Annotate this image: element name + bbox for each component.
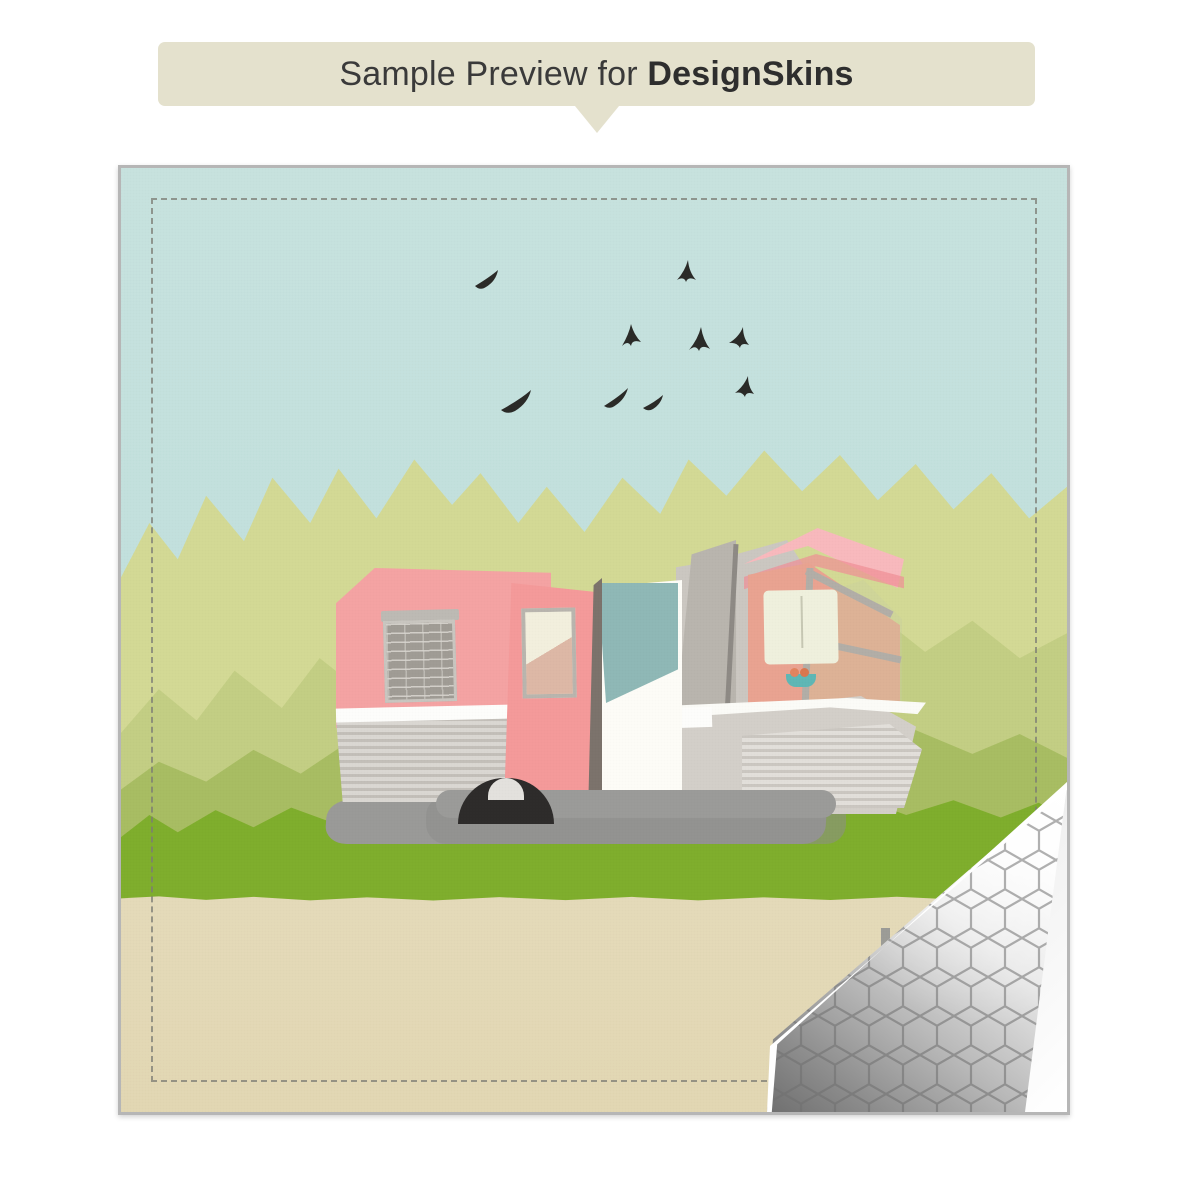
caravan-door-window: [521, 608, 577, 699]
banner-pointer-icon: [575, 106, 619, 133]
artwork-frame[interactable]: [118, 165, 1070, 1115]
louvered-window: [383, 619, 457, 703]
bird-icon: [604, 388, 628, 408]
bird-icon: [735, 376, 754, 397]
door-window-glass: [525, 612, 572, 695]
preview-banner: Sample Preview for DesignSkins: [158, 42, 1035, 106]
caravan[interactable]: [336, 528, 876, 868]
ground-layer: [121, 902, 1067, 1112]
artwork-canvas: [121, 168, 1067, 1112]
bird-icon: [643, 395, 663, 410]
bird-icon: [501, 390, 531, 413]
bird-icon: [689, 327, 710, 351]
bird-icon: [729, 327, 749, 348]
bird-icon: [677, 260, 696, 282]
banner-body: Sample Preview for DesignSkins: [158, 42, 1035, 106]
fruit-icon: [790, 668, 799, 677]
fence-post: [881, 928, 890, 958]
rear-window-curtains: [763, 589, 838, 664]
bird-icon: [622, 324, 641, 346]
banner-title-plain: Sample Preview for: [339, 55, 647, 93]
banner-title: Sample Preview for DesignSkins: [339, 55, 853, 94]
fruit-icon: [800, 668, 809, 677]
louver-slats: [386, 622, 454, 700]
bird-icon: [475, 270, 498, 289]
banner-title-brand: DesignSkins: [647, 55, 853, 93]
